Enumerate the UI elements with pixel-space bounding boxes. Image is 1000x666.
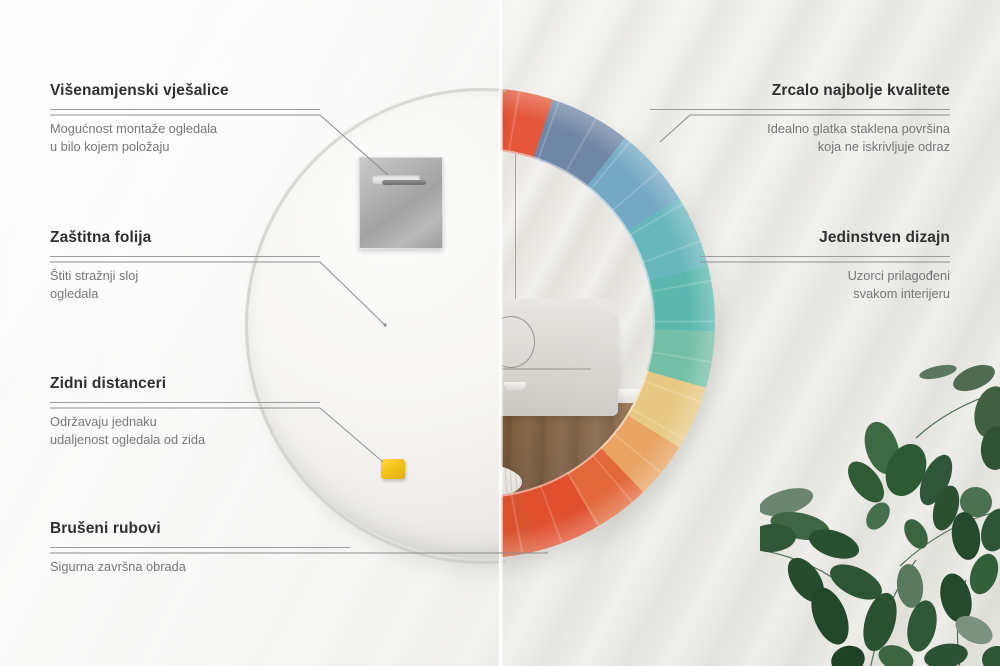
callout-wall-spacers: Zidni distanceri Održavaju jednaku udalj… bbox=[50, 375, 320, 449]
foliage-decoration bbox=[760, 330, 1000, 666]
mirror-product bbox=[245, 88, 715, 558]
callout-title: Zaštitna folija bbox=[50, 229, 320, 247]
callout-rule bbox=[50, 109, 320, 110]
callout-protective-film: Zaštitna folija Štiti stražnji sloj ogle… bbox=[50, 229, 320, 303]
hanger-slot-shadow bbox=[382, 180, 426, 185]
callout-rule bbox=[50, 402, 320, 403]
callout-desc: Štiti stražnji sloj ogledala bbox=[50, 267, 320, 303]
mirror-split-seam bbox=[499, 0, 503, 666]
callout-title: Zrcalo najbolje kvalitete bbox=[650, 82, 950, 100]
callout-desc: Održavaju jednaku udaljenost ogledala od… bbox=[50, 413, 320, 449]
callout-multipurpose-hangers: Višenamjenski vješalice Mogućnost montaž… bbox=[50, 82, 320, 156]
callout-desc: Uzorci prilagođeni svakom interijeru bbox=[700, 267, 950, 303]
callout-title: Brušeni rubovi bbox=[50, 520, 350, 538]
callout-title: Jedinstven dizajn bbox=[700, 229, 950, 247]
hanger-plate bbox=[359, 157, 443, 249]
callout-unique-design: Jedinstven dizajn Uzorci prilagođeni sva… bbox=[700, 229, 950, 303]
callout-rule bbox=[700, 256, 950, 257]
callout-polished-edges: Brušeni rubovi Sigurna završna obrada bbox=[50, 520, 350, 576]
yellow-spacer bbox=[381, 459, 405, 479]
callout-rule bbox=[50, 547, 350, 548]
callout-rule bbox=[650, 109, 950, 110]
product-infographic: Višenamjenski vješalice Mogućnost montaž… bbox=[0, 0, 1000, 666]
callout-best-quality-mirror: Zrcalo najbolje kvalitete Idealno glatka… bbox=[650, 82, 950, 156]
callout-desc: Sigurna završna obrada bbox=[50, 558, 350, 576]
callout-title: Višenamjenski vješalice bbox=[50, 82, 320, 100]
callout-title: Zidni distanceri bbox=[50, 375, 320, 393]
reflected-pendant-shade bbox=[504, 382, 526, 391]
callout-rule bbox=[50, 256, 320, 257]
callout-desc: Mogućnost montaže ogledala u bilo kojem … bbox=[50, 120, 320, 156]
callout-desc: Idealno glatka staklena površina koja ne… bbox=[650, 120, 950, 156]
